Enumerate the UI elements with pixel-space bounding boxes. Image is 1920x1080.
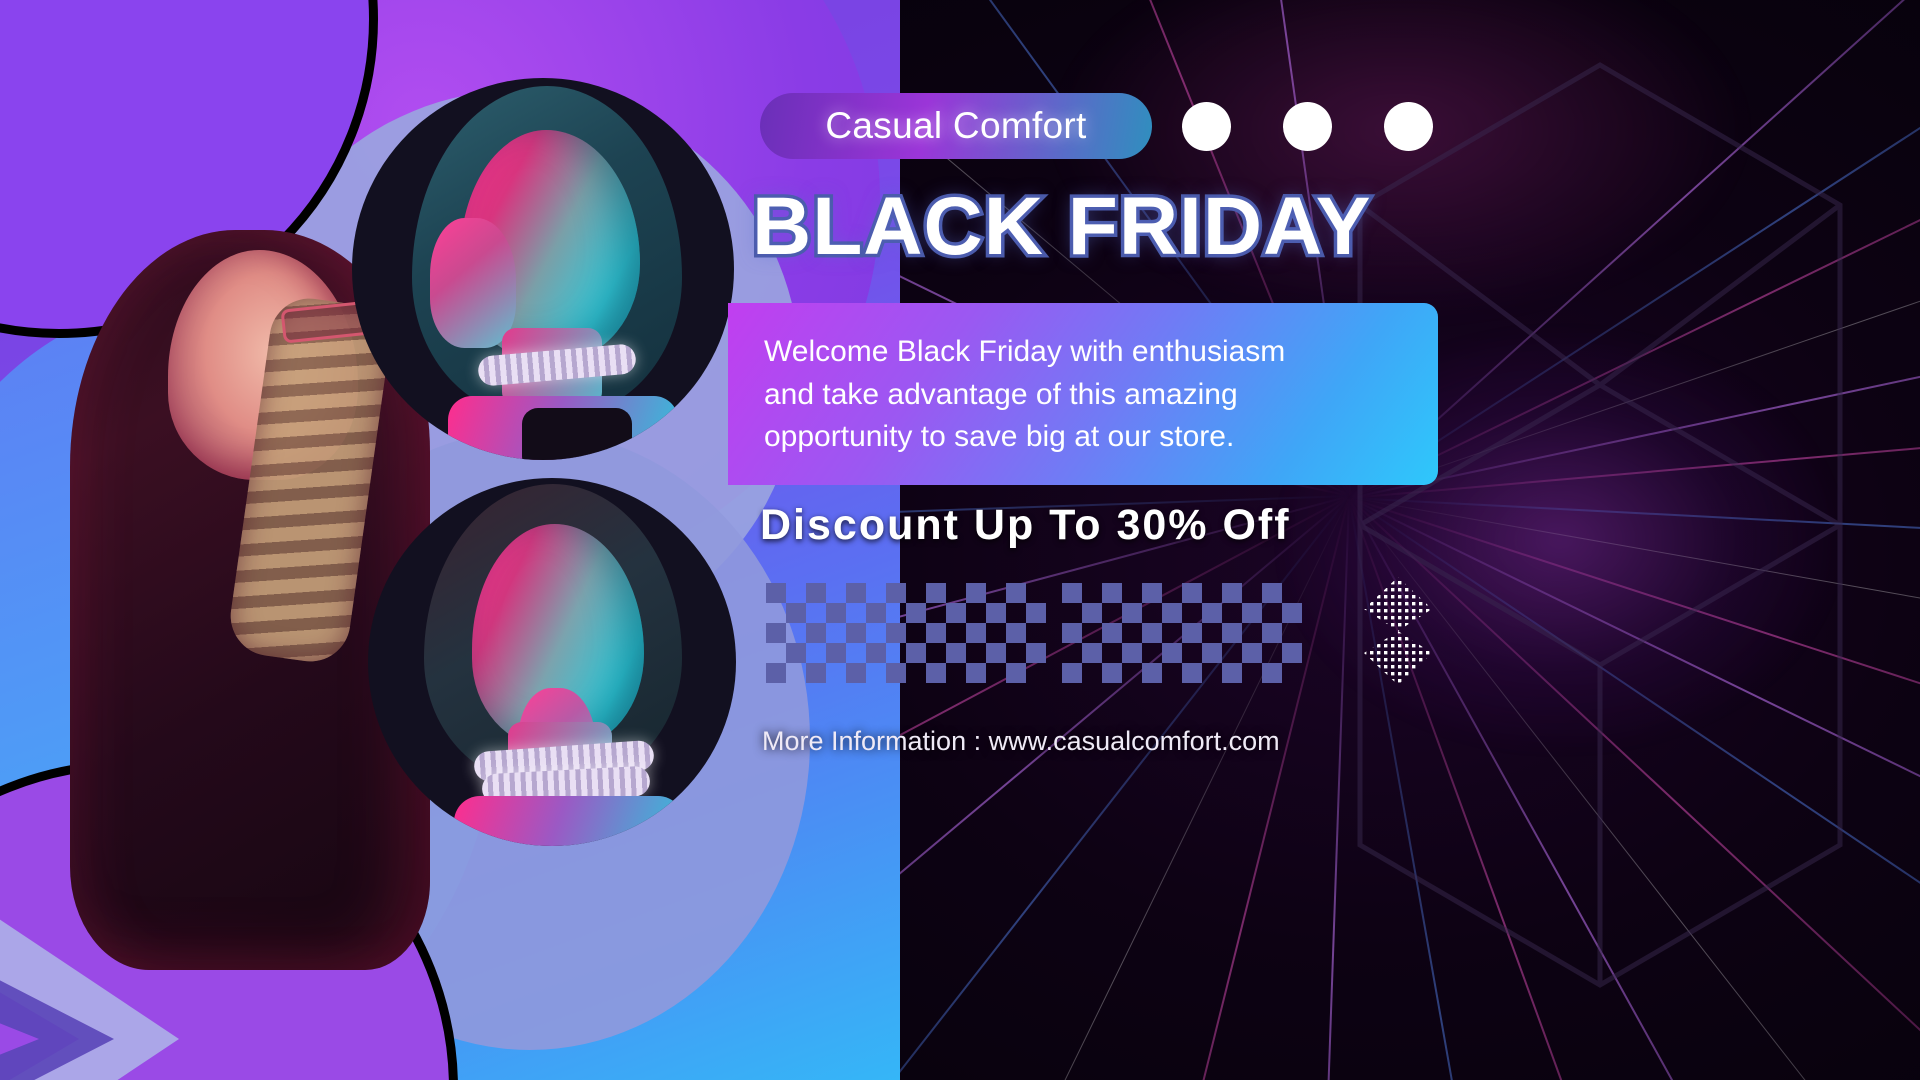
decor-dot-2 [1283, 102, 1332, 151]
main-headline: BLACK FRIDAY [752, 186, 1442, 268]
brand-pill-label: Casual Comfort [825, 105, 1086, 147]
portrait-photo-top [352, 78, 734, 460]
description-text: Welcome Black Friday with enthusiasmand … [764, 331, 1364, 459]
checkerboard-pattern-right [1062, 583, 1302, 683]
dotted-diamond-icon [1362, 573, 1434, 689]
banner-canvas: Casual Comfort BLACK FRIDAY Welcome Blac… [0, 0, 1920, 1080]
discount-headline: Discount Up To 30% Off [760, 501, 1460, 550]
more-information-text[interactable]: More Information : www.casualcomfort.com [762, 726, 1280, 757]
decor-dots-group [1182, 102, 1433, 151]
chevron-arrow-icon-top [0, 0, 159, 249]
description-panel: Welcome Black Friday with enthusiasmand … [728, 303, 1438, 485]
brand-pill[interactable]: Casual Comfort [760, 93, 1152, 159]
checkerboard-pattern-left [766, 583, 1046, 683]
portrait-photo-bottom [368, 478, 736, 846]
decor-dot-1 [1182, 102, 1231, 151]
decor-dot-3 [1384, 102, 1433, 151]
